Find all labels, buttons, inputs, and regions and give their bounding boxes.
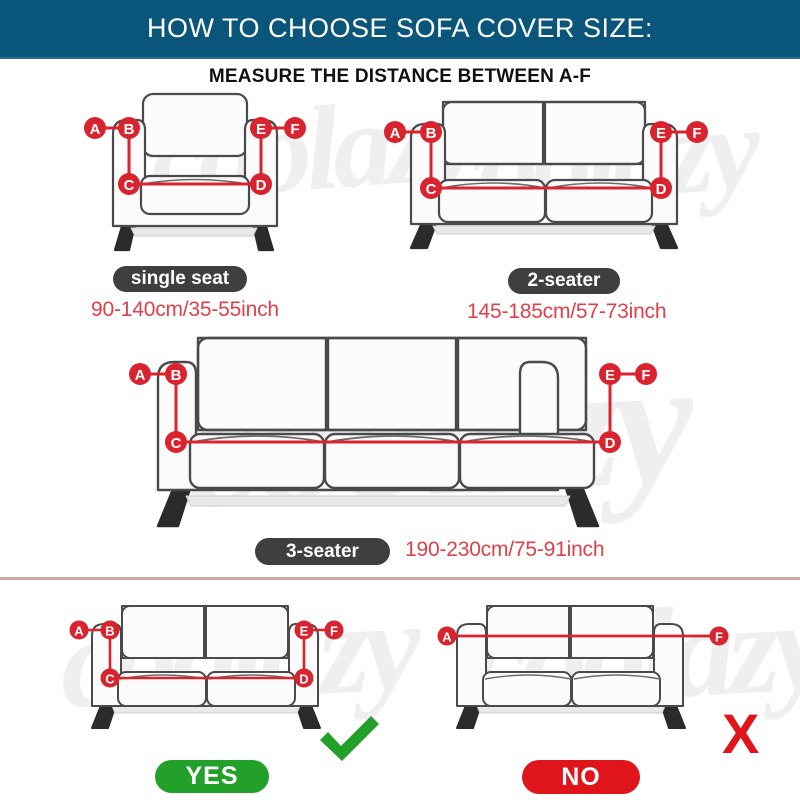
- svg-text:E: E: [605, 367, 615, 384]
- size-label-3-seater: 3-seater: [255, 538, 390, 565]
- svg-text:B: B: [426, 125, 437, 142]
- svg-text:A: A: [90, 121, 101, 138]
- header-banner: HOW TO CHOOSE SOFA COVER SIZE:: [0, 0, 800, 57]
- svg-text:B: B: [105, 624, 114, 639]
- measurement-3-seater: 190-230cm/75-91inch: [405, 538, 604, 562]
- svg-text:B: B: [124, 121, 135, 138]
- section-divider: [0, 577, 800, 580]
- svg-text:A: A: [74, 624, 84, 639]
- sofa-diagram-2-seater: A B C D E F: [385, 96, 735, 264]
- svg-text:A: A: [135, 367, 146, 384]
- infographic-page: HOW TO CHOOSE SOFA COVER SIZE: MEASURE T…: [0, 0, 800, 800]
- svg-text:D: D: [299, 672, 308, 687]
- measurement-single-seat: 90-140cm/35-55inch: [91, 298, 279, 322]
- sofa-diagram-single-seat: A B C D E F: [85, 88, 315, 263]
- header-underline: [0, 57, 800, 59]
- svg-text:B: B: [171, 367, 182, 384]
- svg-text:E: E: [256, 121, 266, 138]
- svg-text:D: D: [256, 177, 267, 194]
- svg-text:C: C: [426, 181, 437, 198]
- yes-badge: YES: [155, 760, 269, 793]
- page-title: HOW TO CHOOSE SOFA COVER SIZE:: [147, 13, 653, 44]
- svg-text:C: C: [171, 435, 182, 452]
- svg-text:F: F: [715, 630, 723, 645]
- size-label-single-seat: single seat: [113, 266, 247, 292]
- svg-text:F: F: [290, 121, 299, 138]
- svg-text:A: A: [442, 630, 452, 645]
- svg-text:E: E: [656, 125, 666, 142]
- svg-text:D: D: [656, 181, 667, 198]
- measurement-2-seater: 145-185cm/57-73inch: [467, 300, 666, 324]
- svg-text:F: F: [641, 367, 650, 384]
- check-mark-icon: [316, 714, 382, 766]
- svg-text:F: F: [692, 125, 701, 142]
- svg-text:F: F: [330, 624, 338, 639]
- size-label-2-seater: 2-seater: [508, 268, 620, 294]
- page-subtitle: MEASURE THE DISTANCE BETWEEN A-F: [0, 66, 800, 88]
- cross-mark-icon: X: [722, 706, 759, 762]
- svg-text:C: C: [124, 177, 135, 194]
- svg-text:D: D: [605, 435, 616, 452]
- sofa-diagram-incorrect: A F: [435, 600, 735, 740]
- svg-text:E: E: [300, 624, 309, 639]
- no-badge: NO: [522, 760, 640, 794]
- svg-text:C: C: [105, 672, 115, 687]
- svg-text:A: A: [390, 125, 401, 142]
- sofa-diagram-3-seater: A B C D E F: [128, 330, 688, 538]
